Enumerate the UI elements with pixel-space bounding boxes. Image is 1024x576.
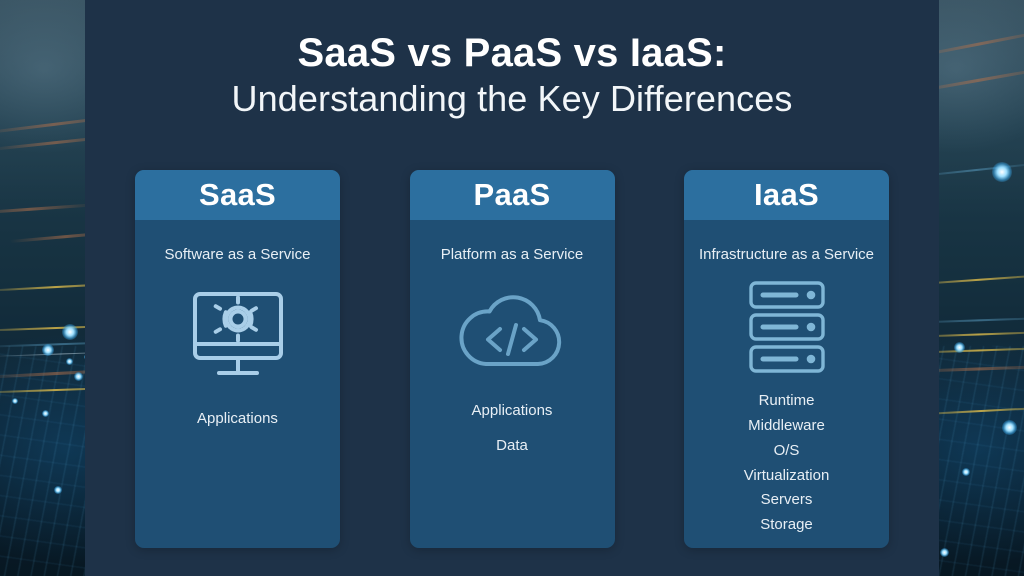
card-saas-title: SaaS xyxy=(199,177,276,213)
card-saas-header: SaaS xyxy=(135,170,340,220)
card-paas-title: PaaS xyxy=(473,177,550,213)
card-paas-header: PaaS xyxy=(410,170,615,220)
stack-item: Storage xyxy=(744,517,830,533)
background-glow-dot xyxy=(42,410,49,417)
card-iaas-subtitle: Infrastructure as a Service xyxy=(699,244,874,265)
background-glow-dot xyxy=(66,358,73,365)
background-glow-dot xyxy=(1002,420,1017,435)
background-glow-dot xyxy=(54,486,62,494)
background-glow-dot xyxy=(74,372,83,381)
background-glow-dot xyxy=(12,398,18,404)
card-paas[interactable]: PaaS Platform as a Service Applications xyxy=(410,170,615,548)
card-iaas-body: Infrastructure as a Service xyxy=(684,220,889,548)
card-saas[interactable]: SaaS Software as a Service xyxy=(135,170,340,548)
background-glow-dot xyxy=(992,162,1012,182)
comparison-cards: SaaS Software as a Service xyxy=(135,170,889,548)
stack-item: Applications xyxy=(472,403,553,418)
content-panel: SaaS vs PaaS vs IaaS: Understanding the … xyxy=(85,0,939,576)
card-saas-stack-list: Applications xyxy=(197,411,278,426)
server-rack-icon xyxy=(746,277,828,377)
card-iaas[interactable]: IaaS Infrastructure as a Service xyxy=(684,170,889,548)
stack-item: Runtime xyxy=(744,393,830,409)
card-paas-subtitle: Platform as a Service xyxy=(441,244,584,265)
cloud-code-icon xyxy=(456,285,568,377)
background-glow-dot xyxy=(42,344,54,356)
card-iaas-title: IaaS xyxy=(754,177,819,213)
card-paas-body: Platform as a Service Applications Data xyxy=(410,220,615,548)
page-title-line2: Understanding the Key Differences xyxy=(85,76,939,123)
stack-item: Virtualization xyxy=(744,468,830,484)
background-glow-dot xyxy=(962,468,970,476)
slide-canvas: SaaS vs PaaS vs IaaS: Understanding the … xyxy=(0,0,1024,576)
card-iaas-stack-list: Runtime Middleware O/S Virtualization Se… xyxy=(744,393,830,533)
page-title-line1: SaaS vs PaaS vs IaaS: xyxy=(85,30,939,76)
monitor-gear-icon xyxy=(189,287,287,383)
stack-item: O/S xyxy=(744,443,830,459)
page-title: SaaS vs PaaS vs IaaS: Understanding the … xyxy=(85,30,939,123)
background-glow-dot xyxy=(954,342,965,353)
card-saas-body: Software as a Service xyxy=(135,220,340,548)
stack-item: Data xyxy=(472,438,553,453)
background-glow-dot xyxy=(940,548,949,557)
card-paas-stack-list: Applications Data xyxy=(472,403,553,453)
stack-item: Servers xyxy=(744,492,830,508)
card-iaas-header: IaaS xyxy=(684,170,889,220)
stack-item: Applications xyxy=(197,411,278,426)
stack-item: Middleware xyxy=(744,418,830,434)
card-saas-subtitle: Software as a Service xyxy=(165,244,311,265)
background-glow-dot xyxy=(62,324,78,340)
